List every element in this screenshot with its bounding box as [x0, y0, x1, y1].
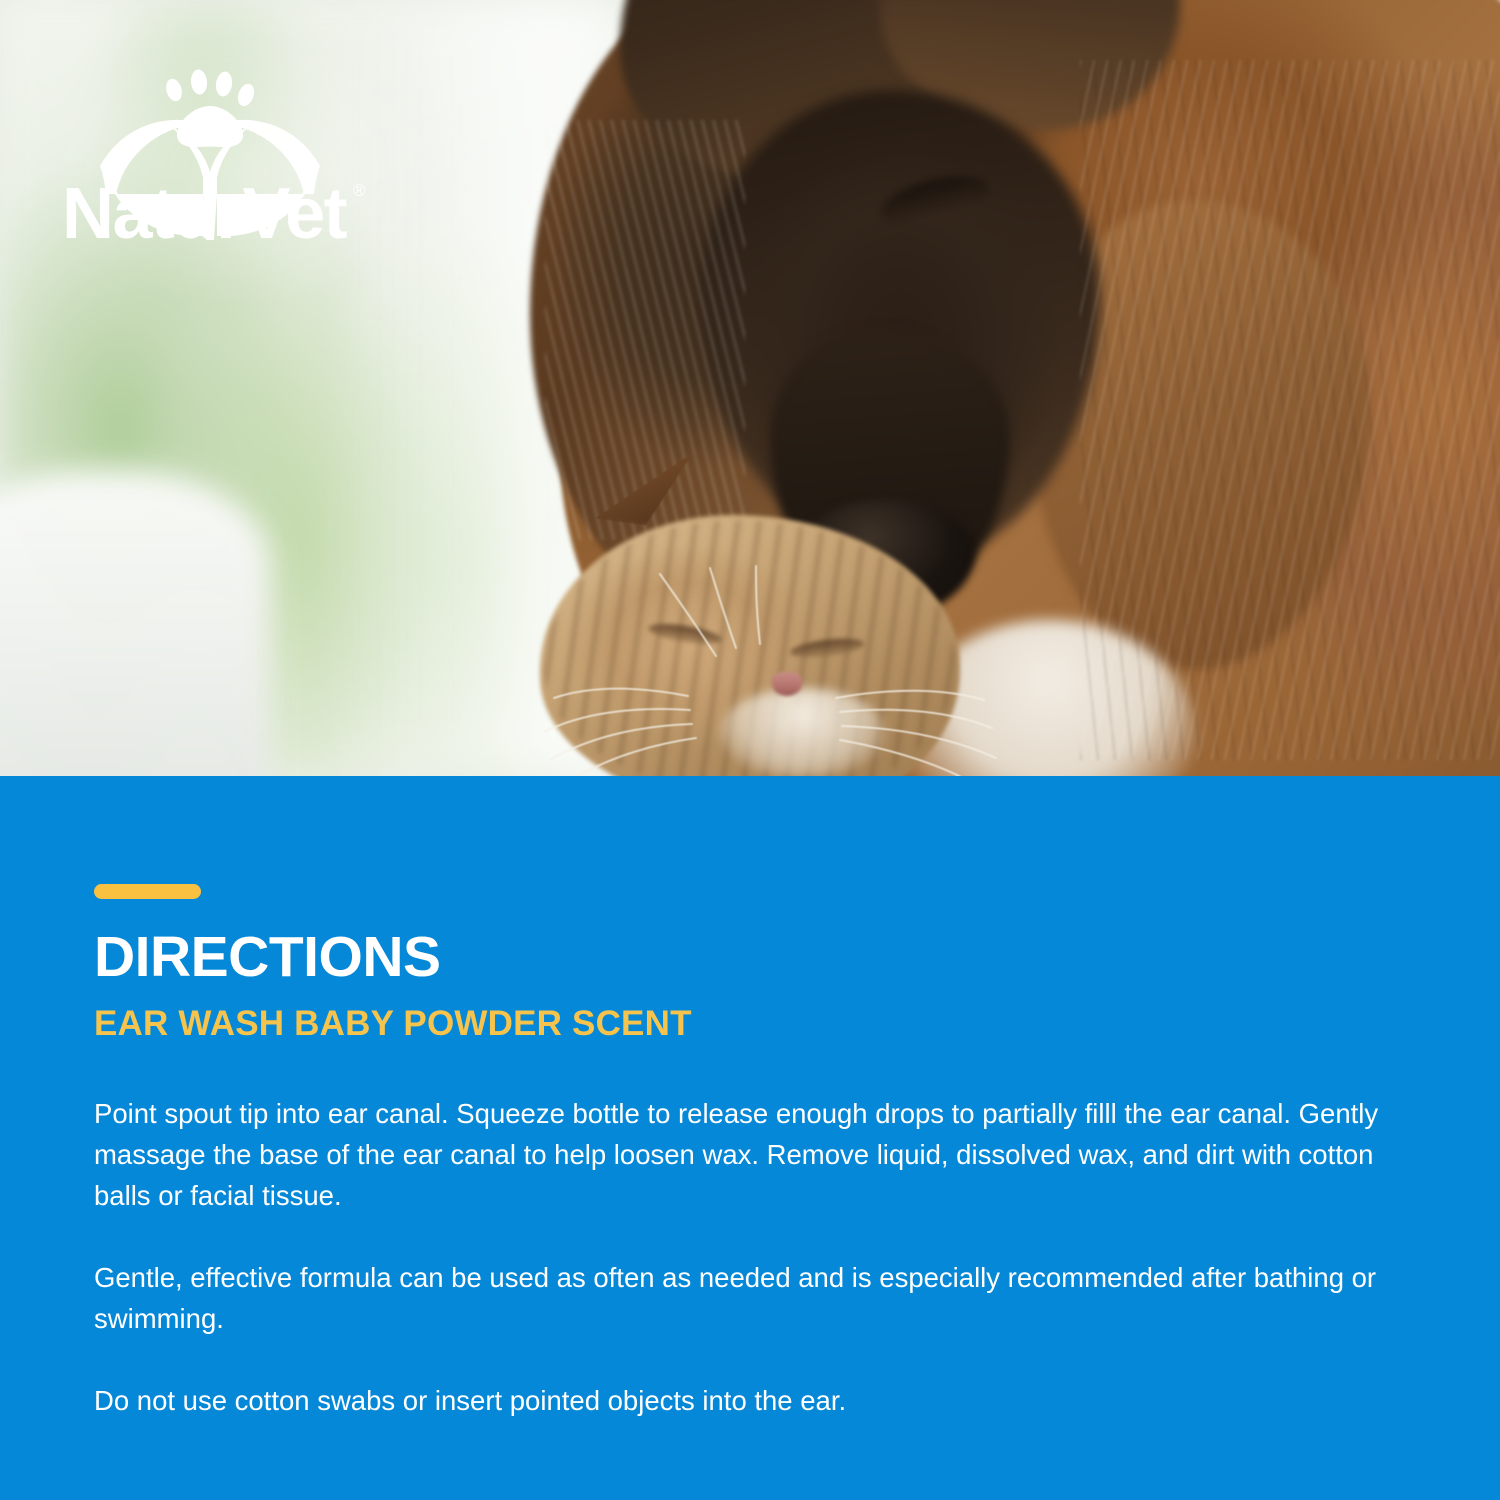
product-directions-page: NaturVet ® DIRECTIONS EAR WASH BABY POWD… — [0, 0, 1500, 1500]
directions-panel: DIRECTIONS EAR WASH BABY POWDER SCENT Po… — [0, 776, 1500, 1500]
directions-paragraph: Point spout tip into ear canal. Squeeze … — [94, 1093, 1394, 1216]
directions-paragraph: Do not use cotton swabs or insert pointe… — [94, 1380, 1394, 1421]
wordmark-text: NaturVet — [62, 174, 348, 248]
naturvet-wordmark: NaturVet — [62, 174, 348, 248]
dog-fur-texture-right — [1080, 60, 1500, 760]
directions-heading: DIRECTIONS — [94, 929, 1404, 986]
blurred-planter-pot — [0, 470, 270, 776]
directions-body: Point spout tip into ear canal. Squeeze … — [94, 1093, 1404, 1421]
directions-paragraph: Gentle, effective formula can be used as… — [94, 1257, 1394, 1339]
directions-content: DIRECTIONS EAR WASH BABY POWDER SCENT Po… — [94, 884, 1404, 1449]
product-name-subheading: EAR WASH BABY POWDER SCENT — [94, 1006, 1404, 1041]
registered-trademark-symbol: ® — [353, 181, 366, 200]
paw-print-icon — [164, 69, 257, 147]
naturvet-logo: NaturVet ® — [62, 68, 392, 248]
accent-bar — [94, 884, 201, 899]
hero-photo: NaturVet ® — [0, 0, 1500, 776]
dog-fur-highlights-left — [545, 120, 745, 540]
cat-muzzle — [720, 688, 885, 776]
